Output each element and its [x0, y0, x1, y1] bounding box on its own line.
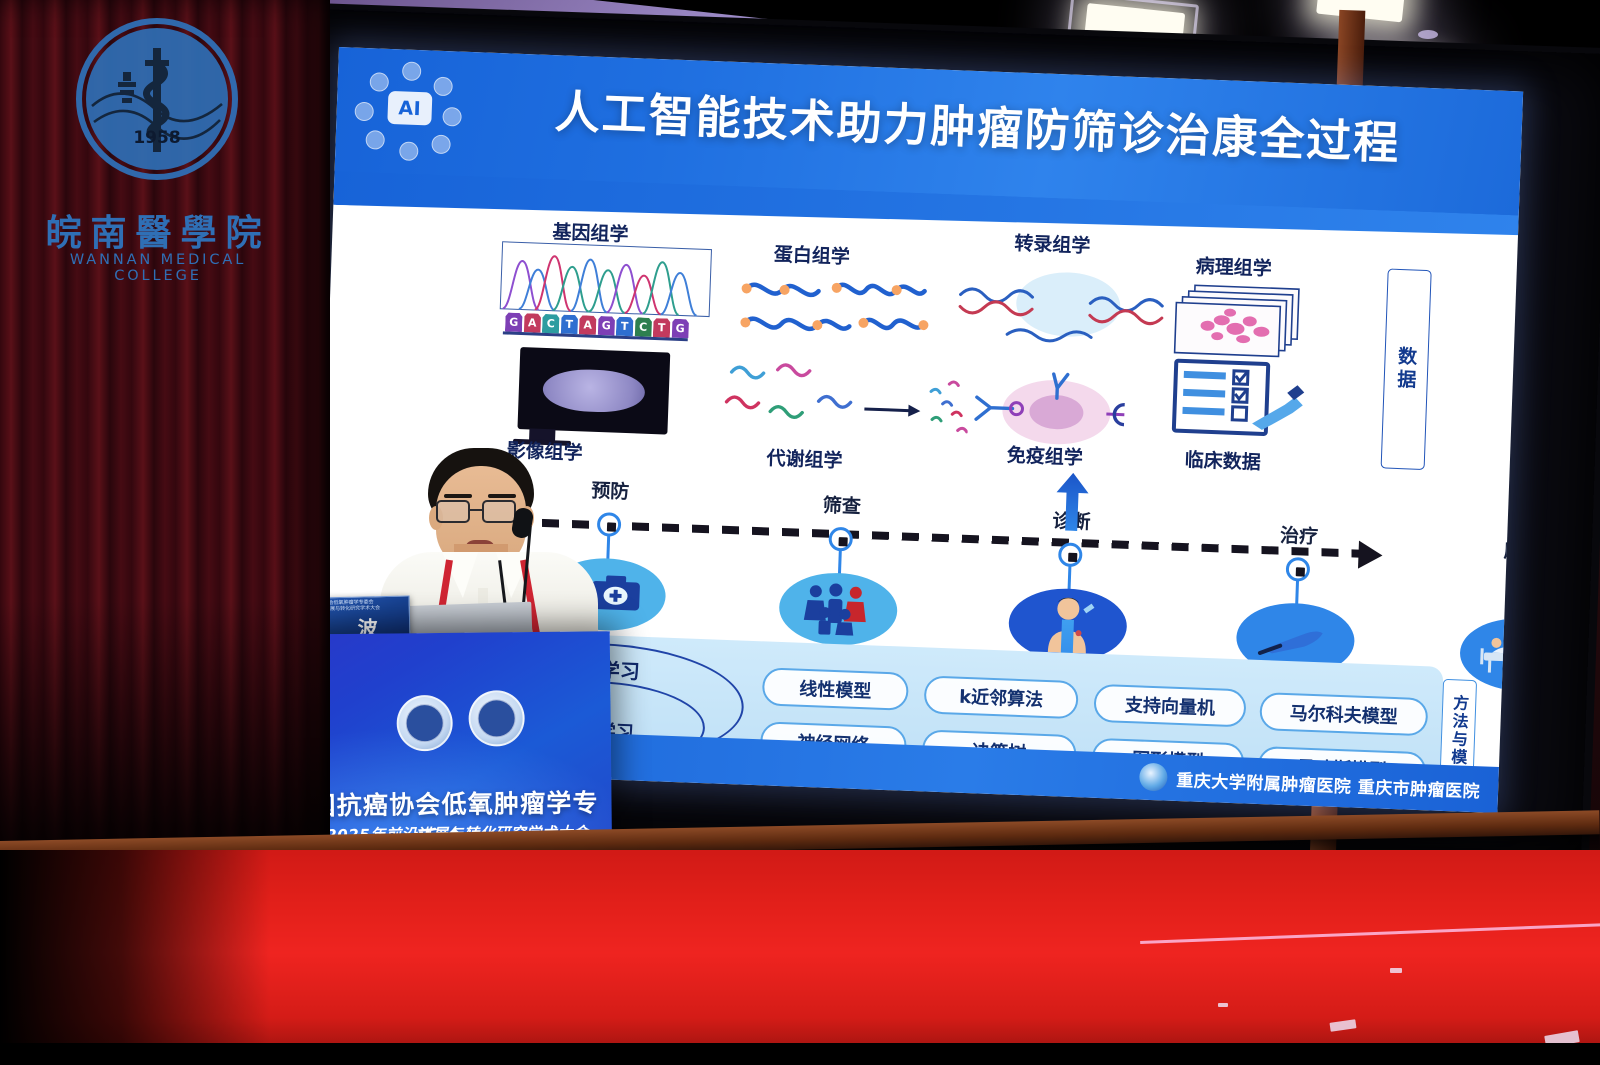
timeline-pin-icon: [828, 527, 853, 552]
caca-emblem-icon: [396, 695, 453, 752]
dna-base: G: [505, 312, 523, 332]
timeline-label: 筛查: [822, 490, 861, 518]
ai-orbit-dot-icon: [431, 135, 451, 155]
method-pill[interactable]: 马尔科夫模型: [1259, 692, 1428, 736]
data-badge: 数据: [1381, 269, 1432, 471]
clipboard-checklist-icon: [1167, 356, 1320, 448]
wannan-medical-college-logo: 1958 皖南醫學院 WANNAN MEDICAL COLLEGE: [28, 18, 288, 288]
dna-base: T: [653, 318, 671, 338]
omics-label-metabolomics: 代谢组学: [766, 443, 843, 473]
omics-label-clinical-data: 临床数据: [1184, 445, 1261, 475]
floor-debris: [1218, 1003, 1228, 1007]
ai-orbit-dot-icon: [354, 102, 374, 122]
brain-scan-image: [542, 368, 645, 414]
pathology-slides-icon: [1171, 280, 1324, 360]
eyebrow-right: [488, 494, 516, 498]
ai-orbit-dot-icon: [369, 72, 389, 92]
emblem-inner: [405, 704, 443, 742]
ai-orbit-dot-icon: [402, 61, 422, 81]
emblem-inner: [477, 699, 515, 737]
method-pill[interactable]: 线性模型: [762, 667, 909, 710]
monitor-scan-icon: [517, 347, 670, 435]
dna-base: A: [523, 313, 541, 333]
eyeglasses-lens-left: [436, 500, 470, 523]
timeline-arrow-icon: [1358, 541, 1383, 570]
method-pill[interactable]: 支持向量机: [1093, 684, 1246, 728]
dna-base: T: [560, 315, 578, 335]
omics-label-proteomics: 蛋白组学: [773, 239, 850, 269]
omics-label-transcriptomics: 转录组学: [1014, 228, 1091, 258]
omics-label-immunomics: 免疫组学: [1006, 440, 1083, 470]
timeline-stem: [838, 549, 842, 575]
hypoxia-committee-emblem-icon: [468, 690, 525, 747]
omics-label-pathomics: 病理组学: [1195, 251, 1272, 281]
college-name-english: WANNAN MEDICAL COLLEGE: [28, 252, 288, 284]
timeline-stem: [1068, 565, 1072, 591]
timeline-label: 治疗: [1280, 521, 1319, 549]
bottom-letterbox: [0, 1043, 1600, 1065]
ai-logo-label: AI: [387, 91, 432, 126]
ai-orbit-dot-icon: [442, 107, 462, 127]
timeline-pin-icon: [1058, 542, 1083, 567]
eyeglasses-bridge: [470, 509, 482, 511]
ai-logo: AI: [345, 57, 466, 157]
dna-base: C: [542, 314, 560, 334]
dna-base: C: [634, 317, 652, 337]
hospital-credit: 重庆大学附属肿瘤医院 重庆市肿瘤医院: [1176, 765, 1481, 801]
college-name-chinese: 皖南醫學院: [28, 204, 288, 256]
dna-base: A: [579, 315, 597, 335]
logo-founded-year: 1958: [86, 128, 228, 148]
dna-base: G: [597, 316, 615, 336]
dna-base: T: [616, 317, 634, 337]
ai-orbit-dot-icon: [365, 130, 385, 150]
omics-label-genomics: 基因组学: [552, 217, 629, 247]
chromatogram-icon: [500, 241, 712, 317]
conference-scene: AI 人工智能技术助力肿瘤防筛诊治康全过程 基因组学: [0, 0, 1600, 1065]
flow-arrow-up-icon: [1054, 472, 1090, 531]
timeline-pin-icon: [1286, 557, 1311, 582]
metabolite-icon: [717, 360, 970, 451]
ceiling-spot-icon: [1418, 30, 1438, 39]
antibody-cell-icon: [955, 356, 1158, 449]
eyeglasses-lens-right: [482, 500, 516, 523]
floor-left-shadow: [0, 850, 270, 1065]
method-pill[interactable]: k近邻算法: [924, 675, 1079, 719]
timeline-stem: [1295, 579, 1299, 605]
protein-helix-icon: [738, 268, 931, 359]
rna-transcription-icon: [949, 260, 1172, 358]
timeline-stem: [606, 534, 610, 560]
dna-base: G: [671, 319, 689, 339]
floor-debris: [1390, 968, 1402, 973]
population-group-icon: [778, 571, 898, 647]
ai-orbit-dot-icon: [433, 77, 453, 97]
eyebrow-left: [444, 494, 472, 498]
hospital-logo-icon: [1139, 763, 1168, 792]
